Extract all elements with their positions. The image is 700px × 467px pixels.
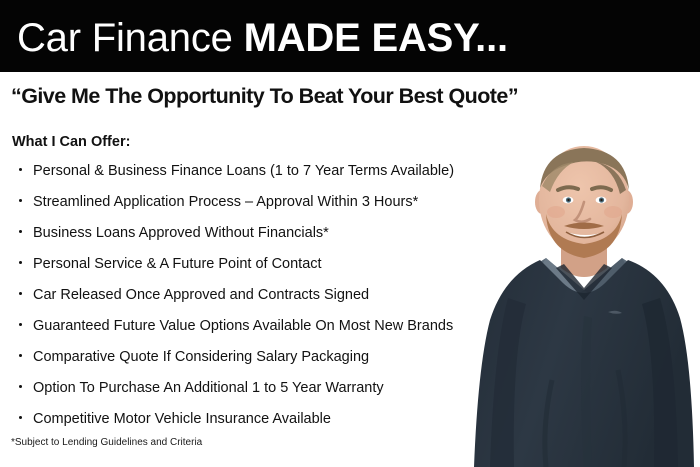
list-item: Option To Purchase An Additional 1 to 5 …: [19, 378, 454, 409]
consultant-portrait-illustration: [468, 140, 700, 467]
list-item-label: Guaranteed Future Value Options Availabl…: [33, 318, 453, 334]
list-item-label: Streamlined Application Process – Approv…: [33, 194, 418, 210]
bullet-icon: [19, 385, 22, 388]
list-item-label: Option To Purchase An Additional 1 to 5 …: [33, 380, 384, 396]
offer-list: Personal & Business Finance Loans (1 to …: [19, 161, 454, 440]
bullet-icon: [19, 261, 22, 264]
list-item: Personal & Business Finance Loans (1 to …: [19, 161, 454, 192]
list-item-label: Comparative Quote If Considering Salary …: [33, 349, 369, 365]
list-item-label: Personal Service & A Future Point of Con…: [33, 256, 322, 272]
list-item-label: Personal & Business Finance Loans (1 to …: [33, 163, 454, 179]
bullet-icon: [19, 292, 22, 295]
consultant-photo: [468, 140, 700, 467]
headline-quote: “Give Me The Opportunity To Beat Your Be…: [11, 84, 691, 109]
page-title: Car Finance MADE EASY...: [17, 16, 508, 60]
list-item: Car Released Once Approved and Contracts…: [19, 285, 454, 316]
disclaimer-text: *Subject to Lending Guidelines and Crite…: [11, 437, 202, 448]
car-finance-poster: Car Finance MADE EASY...: [0, 0, 700, 467]
list-item-label: Business Loans Approved Without Financia…: [33, 225, 329, 241]
list-item: Personal Service & A Future Point of Con…: [19, 254, 454, 285]
bullet-icon: [19, 416, 22, 419]
page-title-bold: MADE EASY...: [244, 16, 508, 60]
bullet-icon: [19, 168, 22, 171]
offer-heading: What I Can Offer:: [12, 134, 130, 150]
list-item-label: Car Released Once Approved and Contracts…: [33, 287, 369, 303]
list-item: Streamlined Application Process – Approv…: [19, 192, 454, 223]
bullet-icon: [19, 230, 22, 233]
list-item-label: Competitive Motor Vehicle Insurance Avai…: [33, 411, 331, 427]
list-item: Business Loans Approved Without Financia…: [19, 223, 454, 254]
bullet-icon: [19, 354, 22, 357]
list-item: Comparative Quote If Considering Salary …: [19, 347, 454, 378]
header-banner: Car Finance MADE EASY...: [0, 0, 700, 72]
list-item: Competitive Motor Vehicle Insurance Avai…: [19, 409, 454, 440]
page-title-light: Car Finance: [17, 16, 244, 60]
bullet-icon: [19, 323, 22, 326]
list-item: Guaranteed Future Value Options Availabl…: [19, 316, 454, 347]
bullet-icon: [19, 199, 22, 202]
